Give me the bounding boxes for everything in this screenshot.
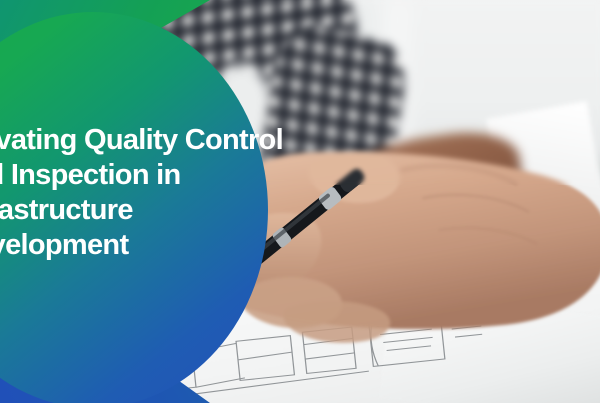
hero-banner: Elevating Quality Control and Inspection… bbox=[0, 0, 600, 403]
page-title: Elevating Quality Control and Inspection… bbox=[0, 123, 284, 263]
